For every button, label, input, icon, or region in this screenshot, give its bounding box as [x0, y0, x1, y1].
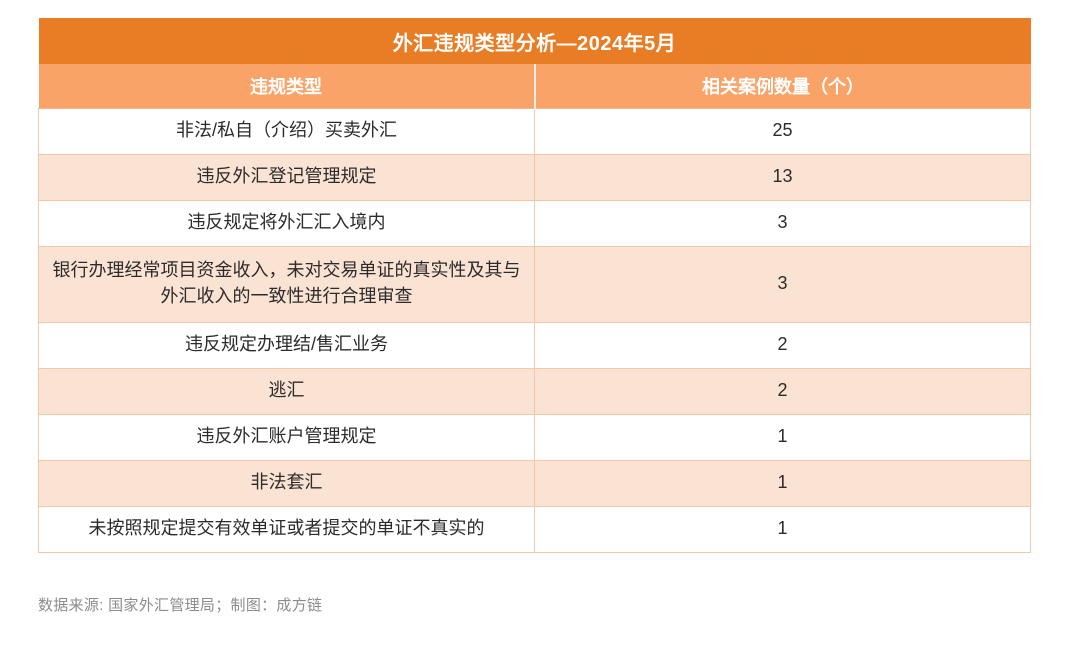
table-row: 银行办理经常项目资金收入，未对交易单证的真实性及其与外汇收入的一致性进行合理审查… — [39, 246, 1031, 322]
table-row: 违反规定办理结/售汇业务 2 — [39, 322, 1031, 368]
cell-case-count: 13 — [535, 154, 1031, 200]
cell-case-count: 25 — [535, 108, 1031, 154]
table-row: 违反外汇登记管理规定 13 — [39, 154, 1031, 200]
cell-violation-type: 逃汇 — [39, 368, 535, 414]
cell-violation-type: 违反规定将外汇汇入境内 — [39, 200, 535, 246]
table-row: 逃汇 2 — [39, 368, 1031, 414]
source-note: 数据来源: 国家外汇管理局；制图：成方链 — [38, 594, 322, 615]
cell-case-count: 3 — [535, 200, 1031, 246]
violation-type-table-wrapper: 外汇违规类型分析—2024年5月 违规类型 相关案例数量（个） 非法/私自（介绍… — [38, 18, 1031, 553]
cell-violation-type: 未按照规定提交有效单证或者提交的单证不真实的 — [39, 506, 535, 552]
table-row: 非法套汇 1 — [39, 460, 1031, 506]
title-row: 外汇违规类型分析—2024年5月 — [39, 18, 1031, 64]
cell-violation-type: 银行办理经常项目资金收入，未对交易单证的真实性及其与外汇收入的一致性进行合理审查 — [39, 246, 535, 322]
table-title: 外汇违规类型分析—2024年5月 — [39, 18, 1031, 64]
cell-case-count: 1 — [535, 460, 1031, 506]
cell-violation-type: 违反外汇登记管理规定 — [39, 154, 535, 200]
table-row: 违反外汇账户管理规定 1 — [39, 414, 1031, 460]
violation-type-table: 外汇违规类型分析—2024年5月 违规类型 相关案例数量（个） 非法/私自（介绍… — [38, 18, 1031, 553]
table-row: 非法/私自（介绍）买卖外汇 25 — [39, 108, 1031, 154]
column-header-case-count: 相关案例数量（个） — [535, 64, 1031, 108]
page-root: 外汇违规类型分析—2024年5月 违规类型 相关案例数量（个） 非法/私自（介绍… — [0, 0, 1080, 653]
column-header-violation-type: 违规类型 — [39, 64, 535, 108]
column-header-row: 违规类型 相关案例数量（个） — [39, 64, 1031, 108]
cell-violation-type: 违反外汇账户管理规定 — [39, 414, 535, 460]
cell-violation-type: 非法套汇 — [39, 460, 535, 506]
cell-case-count: 1 — [535, 506, 1031, 552]
cell-case-count: 1 — [535, 414, 1031, 460]
table-body: 非法/私自（介绍）买卖外汇 25 违反外汇登记管理规定 13 违反规定将外汇汇入… — [39, 108, 1031, 552]
cell-case-count: 2 — [535, 368, 1031, 414]
table-head: 外汇违规类型分析—2024年5月 违规类型 相关案例数量（个） — [39, 18, 1031, 108]
table-row: 未按照规定提交有效单证或者提交的单证不真实的 1 — [39, 506, 1031, 552]
cell-violation-type: 违反规定办理结/售汇业务 — [39, 322, 535, 368]
cell-case-count: 3 — [535, 246, 1031, 322]
cell-violation-type: 非法/私自（介绍）买卖外汇 — [39, 108, 535, 154]
cell-case-count: 2 — [535, 322, 1031, 368]
table-row: 违反规定将外汇汇入境内 3 — [39, 200, 1031, 246]
